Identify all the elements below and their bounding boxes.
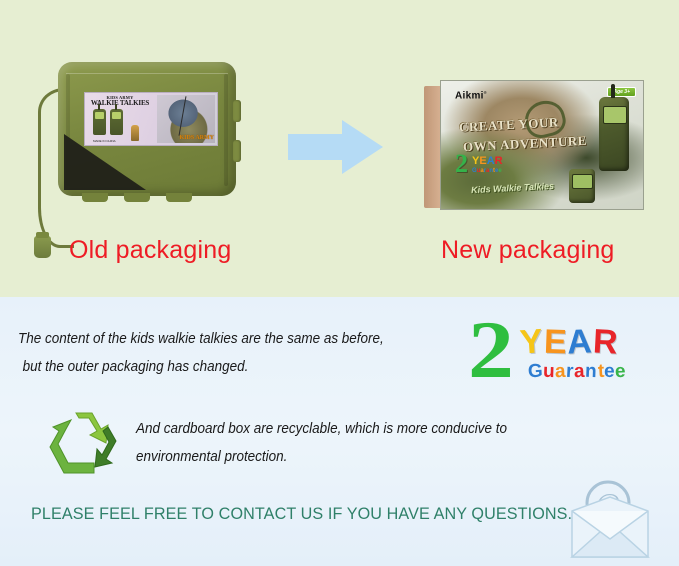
paragraph-1-line-1: The content of the kids walkie talkies a… bbox=[18, 331, 384, 347]
walkie-talkie-icon bbox=[110, 109, 123, 135]
guarantee-word: Guarantee bbox=[528, 361, 627, 383]
paragraph-1-line-2: but the outer packaging has changed. bbox=[18, 353, 384, 381]
figure-artwork bbox=[131, 125, 139, 141]
case-rib bbox=[224, 74, 228, 186]
contact-message: PLEASE FEEL FREE TO CONTACT US IF YOU HA… bbox=[31, 505, 572, 524]
label-tagline: KIDS ARMY bbox=[179, 135, 214, 141]
arrow-right-icon bbox=[288, 118, 384, 176]
comparison-panel: KIDS ARMY WALKIE TALKIES MADE IN CHINA K… bbox=[0, 0, 679, 297]
recycle-icon bbox=[46, 407, 122, 479]
walkie-talkie-icon bbox=[599, 97, 629, 171]
old-packaging-caption: Old packaging bbox=[69, 236, 231, 265]
label-made-in: MADE IN CHINA bbox=[93, 139, 116, 143]
walkie-talkie-icon bbox=[569, 169, 595, 203]
box-front-panel: Aikmi® Age 3+ CREATE YOUR OWN ADVENTURE … bbox=[440, 80, 644, 210]
box-guarantee-badge: 2 YEAR Guarantee bbox=[455, 153, 521, 183]
paragraph-packaging-change: The content of the kids walkie talkies a… bbox=[18, 325, 384, 382]
box-badge-guarantee: Guarantee bbox=[472, 168, 502, 174]
paragraph-2-line-2: environmental protection. bbox=[136, 443, 507, 471]
new-packaging-illustration: Aikmi® Age 3+ CREATE YOUR OWN ADVENTURE … bbox=[424, 80, 644, 212]
brand-name: Aikmi® bbox=[455, 90, 487, 101]
case-lid-seam bbox=[66, 73, 228, 74]
box-badge-year: YEAR bbox=[472, 155, 503, 167]
case-foot bbox=[124, 193, 150, 202]
box-badge-number: 2 bbox=[455, 151, 468, 177]
new-packaging-caption: New packaging bbox=[441, 236, 615, 265]
case-latch bbox=[233, 100, 241, 122]
paragraph-2-line-1: And cardboard box are recyclable, which … bbox=[136, 421, 507, 437]
case-latch bbox=[233, 140, 241, 162]
info-panel: The content of the kids walkie talkies a… bbox=[0, 297, 679, 566]
old-packaging-illustration: KIDS ARMY WALKIE TALKIES MADE IN CHINA K… bbox=[28, 52, 248, 252]
guarantee-year-word: YEAR bbox=[520, 323, 619, 362]
old-packaging-label: KIDS ARMY WALKIE TALKIES MADE IN CHINA K… bbox=[84, 92, 218, 146]
case-foot bbox=[166, 193, 192, 202]
two-year-guarantee-badge: 2 YEAR Guarantee bbox=[468, 315, 668, 393]
guarantee-number: 2 bbox=[468, 309, 514, 391]
promo-image: KIDS ARMY WALKIE TALKIES MADE IN CHINA K… bbox=[0, 0, 679, 566]
walkie-talkie-icon bbox=[93, 109, 106, 135]
box-headline-line2: OWN ADVENTURE bbox=[463, 133, 588, 155]
lanyard-tip-icon bbox=[34, 236, 51, 258]
paragraph-recyclable: And cardboard box are recyclable, which … bbox=[136, 415, 507, 472]
brand-name-text: Aikmi bbox=[455, 90, 484, 101]
case-foot bbox=[82, 193, 108, 202]
envelope-at-icon: @ bbox=[556, 477, 664, 563]
old-packaging-case: KIDS ARMY WALKIE TALKIES MADE IN CHINA K… bbox=[58, 62, 236, 196]
